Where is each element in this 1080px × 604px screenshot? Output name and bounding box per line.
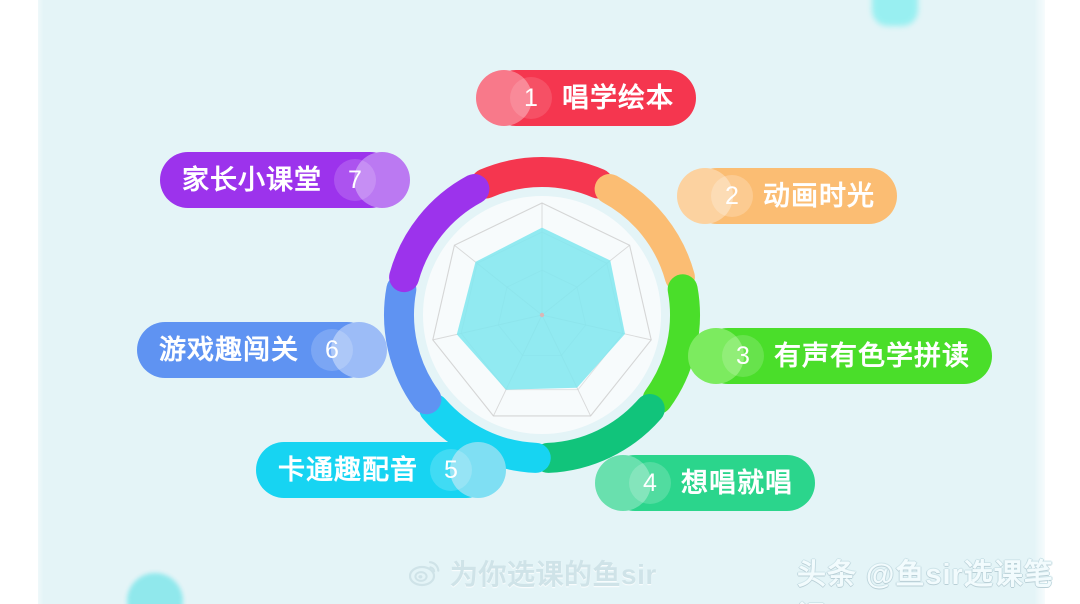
- infographic-canvas: 1 唱学绘本 2 动画时光 3 有声有色学拼读 4 想唱就唱 卡通趣配音 5 游…: [0, 0, 1080, 604]
- pill-text-1: 唱学绘本: [562, 85, 674, 112]
- weibo-watermark-text: 为你选课的鱼sir: [450, 553, 657, 593]
- left-edge-fade: [30, 0, 44, 604]
- pill-text-5: 卡通趣配音: [278, 457, 418, 484]
- pill-text-7: 家长小课堂: [182, 167, 322, 194]
- pill-number-4: 4: [629, 462, 671, 504]
- decorative-blob-top-right: [872, 0, 918, 26]
- pill-text-2: 动画时光: [763, 183, 875, 210]
- right-edge-fade: [1034, 0, 1050, 604]
- pill-text-4: 想唱就唱: [681, 470, 793, 497]
- label-pill-5[interactable]: 卡通趣配音 5: [256, 442, 494, 498]
- ring-segment-1[interactable]: [486, 172, 599, 184]
- label-pill-3[interactable]: 3 有声有色学拼读: [700, 328, 992, 384]
- ring-segment-6[interactable]: [399, 289, 426, 399]
- pill-number-7: 7: [334, 159, 376, 201]
- label-pill-4[interactable]: 4 想唱就唱: [607, 455, 815, 511]
- pill-number-2: 2: [711, 175, 753, 217]
- label-pill-6[interactable]: 游戏趣闯关 6: [137, 322, 375, 378]
- pill-number-1: 1: [510, 77, 552, 119]
- pill-number-5: 5: [430, 449, 472, 491]
- label-pill-2[interactable]: 2 动画时光: [689, 168, 897, 224]
- ring-segment-3[interactable]: [658, 289, 685, 399]
- pill-number-3: 3: [722, 335, 764, 377]
- pill-text-3: 有声有色学拼读: [774, 343, 970, 370]
- pill-text-6: 游戏趣闯关: [159, 337, 299, 364]
- pill-number-6: 6: [311, 329, 353, 371]
- weibo-eye-icon: [409, 559, 441, 587]
- radar-center-dot: [540, 313, 544, 317]
- label-pill-7[interactable]: 家长小课堂 7: [160, 152, 398, 208]
- label-pill-1[interactable]: 1 唱学绘本: [488, 70, 696, 126]
- course-wheel: [372, 145, 712, 485]
- toutiao-watermark: 头条 @鱼sir选课笔记: [797, 551, 1080, 604]
- weibo-watermark: 为你选课的鱼sir: [409, 553, 657, 593]
